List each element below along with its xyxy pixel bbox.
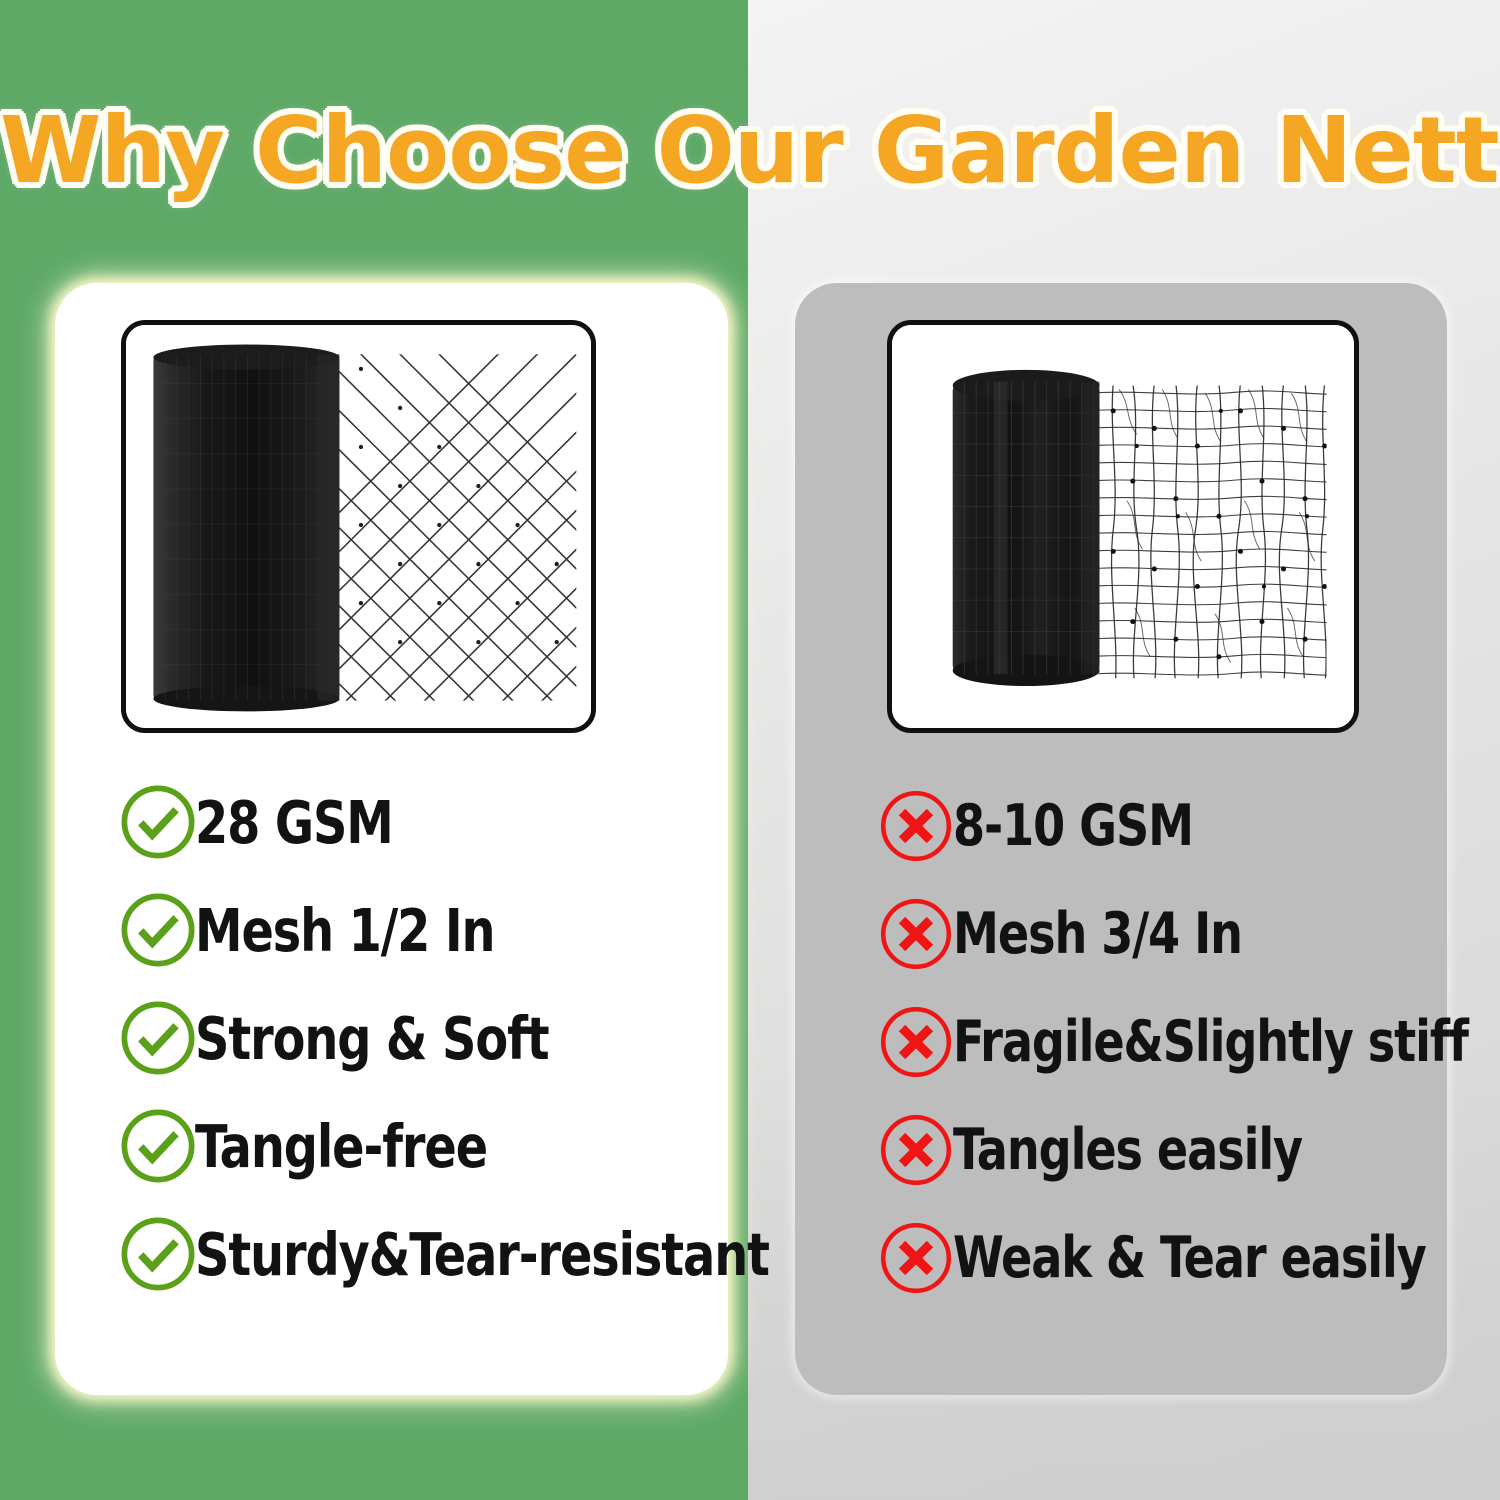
check-circle-icon bbox=[117, 997, 199, 1079]
list-item-label: 28 GSM bbox=[195, 793, 675, 852]
cross-circle-icon bbox=[875, 1001, 957, 1083]
check-circle-icon bbox=[117, 1213, 199, 1295]
list-item: Weak & Tear easily bbox=[795, 1204, 1447, 1312]
list-item: 28 GSM bbox=[55, 768, 728, 876]
netting-roll-fine-diamond-mesh-photo bbox=[121, 320, 596, 733]
list-item-label: 8-10 GSM bbox=[953, 798, 1398, 855]
our-product-feature-list: 28 GSM Mesh 1/2 In Strong & Soft bbox=[55, 768, 728, 1308]
list-item-label: Tangles easily bbox=[953, 1122, 1398, 1179]
list-item-label: Weak & Tear easily bbox=[953, 1230, 1426, 1287]
list-item-label: Strong & Soft bbox=[195, 1009, 675, 1068]
our-product-card: 28 GSM Mesh 1/2 In Strong & Soft bbox=[55, 283, 728, 1395]
list-item: Fragile&Slightly stiff bbox=[795, 988, 1447, 1096]
list-item: Strong & Soft bbox=[55, 984, 728, 1092]
list-item-label: Mesh 1/2 In bbox=[195, 901, 675, 960]
list-item-label: Sturdy&Tear-resistant bbox=[195, 1225, 769, 1284]
netting-roll-coarse-square-mesh-photo bbox=[887, 320, 1359, 733]
list-item: Mesh 3/4 In bbox=[795, 880, 1447, 988]
other-product-card: 8-10 GSM Mesh 3/4 In Fragile&Slightly st… bbox=[795, 283, 1447, 1395]
list-item: Tangle-free bbox=[55, 1092, 728, 1200]
list-item: Sturdy&Tear-resistant bbox=[55, 1200, 728, 1308]
list-item: Tangles easily bbox=[795, 1096, 1447, 1204]
check-circle-icon bbox=[117, 1105, 199, 1187]
cross-circle-icon bbox=[875, 1109, 957, 1191]
list-item-label: Tangle-free bbox=[195, 1117, 675, 1176]
list-item-label: Fragile&Slightly stiff bbox=[953, 1014, 1468, 1071]
list-item: 8-10 GSM bbox=[795, 772, 1447, 880]
check-circle-icon bbox=[117, 889, 199, 971]
check-circle-icon bbox=[117, 781, 199, 863]
cross-circle-icon bbox=[875, 893, 957, 975]
list-item-label: Mesh 3/4 In bbox=[953, 906, 1398, 963]
cross-circle-icon bbox=[875, 1217, 957, 1299]
page-title: Why Choose Our Garden Netting? bbox=[0, 92, 1500, 210]
other-product-feature-list: 8-10 GSM Mesh 3/4 In Fragile&Slightly st… bbox=[795, 772, 1447, 1312]
cross-circle-icon bbox=[875, 785, 957, 867]
list-item: Mesh 1/2 In bbox=[55, 876, 728, 984]
